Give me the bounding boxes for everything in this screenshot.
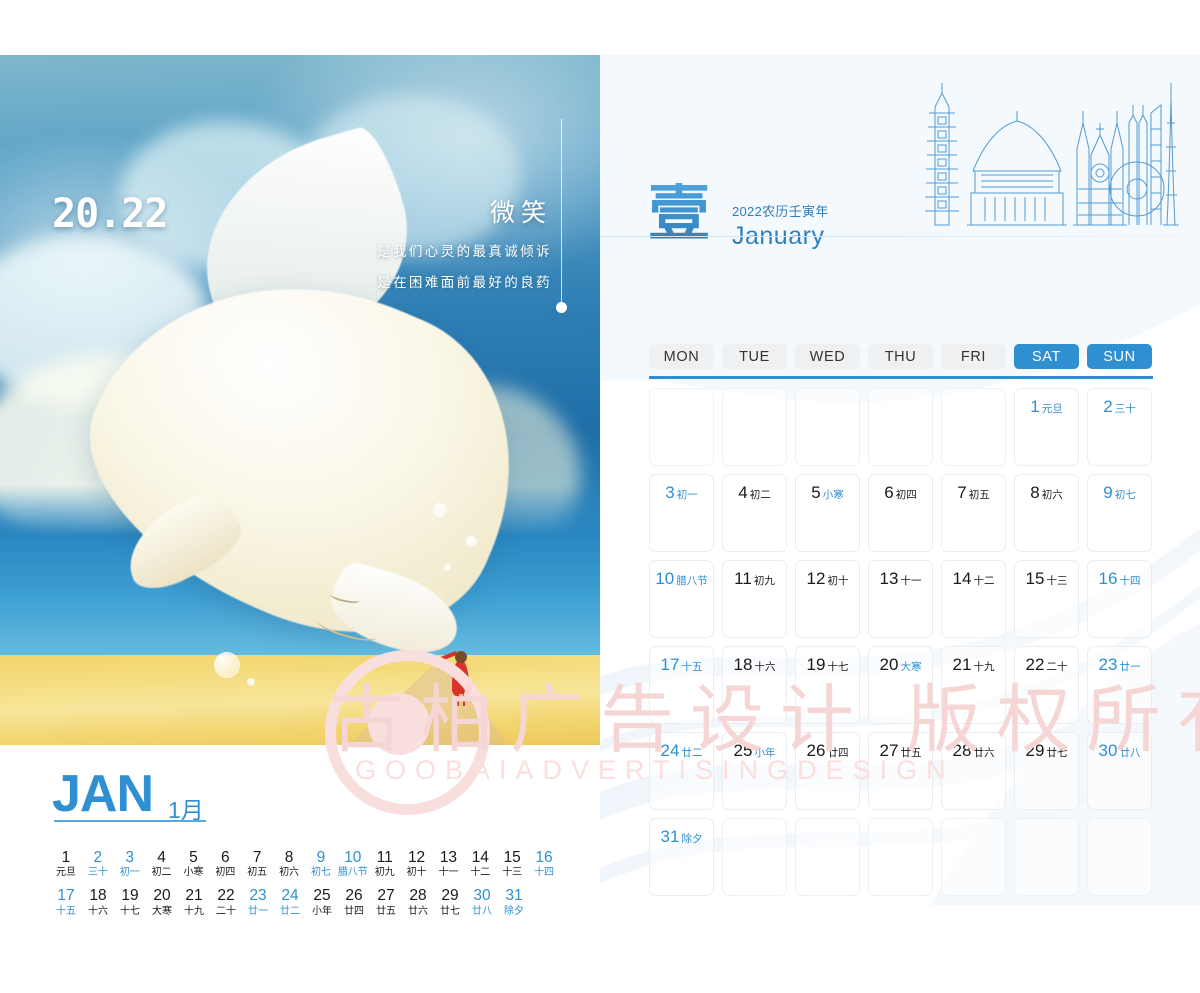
- calendar-cell-empty: [795, 818, 860, 896]
- mini-day-lunar: 除夕: [498, 905, 530, 918]
- mini-calendar-day[interactable]: 20大寒: [146, 888, 178, 917]
- mini-day-number: 2: [82, 850, 114, 866]
- calendar-cell[interactable]: 21十九: [941, 646, 1006, 724]
- mini-day-number: 23: [242, 888, 274, 904]
- day-lunar-label: 廿五: [900, 747, 921, 759]
- mini-calendar-day[interactable]: 4初二: [146, 850, 178, 879]
- poster-panel: 20.22 微笑 是我们心灵的最真诚倾诉 是在困难面前最好的良药 JAN 1月 …: [0, 55, 600, 905]
- calendar-cell[interactable]: 6初四: [868, 474, 933, 552]
- mini-day-lunar: 初七: [305, 866, 337, 879]
- mini-day-lunar: 初六: [273, 866, 305, 879]
- calendar-cell[interactable]: 2三十: [1087, 388, 1152, 466]
- calendar-grid: 1元旦2三十3初一4初二5小寒6初四7初五8初六9初七10腊八节11初九12初十…: [649, 388, 1152, 896]
- day-lunar-label: 初七: [1115, 489, 1136, 501]
- girl-head: [455, 651, 467, 663]
- calendar-cell[interactable]: 5小寒: [795, 474, 860, 552]
- day-lunar-label: 十五: [681, 661, 702, 673]
- mini-day-lunar: 二十: [210, 905, 242, 918]
- day-lunar-label: 十三: [1046, 575, 1067, 587]
- mini-calendar-day[interactable]: 11初九: [369, 850, 401, 879]
- day-number: 8: [1030, 483, 1039, 502]
- weekday-underline: [649, 376, 1153, 379]
- mini-calendar-day[interactable]: 21十九: [178, 888, 210, 917]
- day-lunar-label: 廿二: [681, 747, 702, 759]
- calendar-cell[interactable]: 9初七: [1087, 474, 1152, 552]
- day-number: 23: [1099, 655, 1118, 674]
- mini-calendar-day[interactable]: 23廿一: [242, 888, 274, 917]
- day-number: 4: [738, 483, 747, 502]
- calendar-cell[interactable]: 3初一: [649, 474, 714, 552]
- day-lunar-label: 廿六: [973, 747, 994, 759]
- mini-calendar-day[interactable]: 1元旦: [50, 850, 82, 879]
- calendar-cell[interactable]: 11初九: [722, 560, 787, 638]
- calendar-cell-empty: [795, 388, 860, 466]
- day-number: 28: [953, 741, 972, 760]
- calendar-cell-empty: [649, 388, 714, 466]
- mini-day-lunar: 初二: [146, 866, 178, 879]
- day-number: 30: [1099, 741, 1118, 760]
- quote-title: 微笑: [322, 193, 552, 229]
- mini-day-lunar: 小寒: [178, 866, 210, 879]
- mini-day-lunar: 十一: [433, 866, 465, 879]
- day-lunar-label: 初十: [827, 575, 848, 587]
- day-lunar-label: 元旦: [1042, 403, 1063, 415]
- mini-calendar-day[interactable]: 13十一: [433, 850, 465, 879]
- calendar-cell-empty: [722, 388, 787, 466]
- quote-line: 是在困难面前最好的良药: [322, 271, 552, 291]
- day-lunar-label: 廿八: [1119, 747, 1140, 759]
- mini-day-lunar: 初九: [369, 866, 401, 879]
- day-number: 2: [1103, 397, 1112, 416]
- bubble: [214, 652, 240, 678]
- header-divider: [600, 236, 1200, 237]
- mini-day-lunar: 小年: [306, 905, 338, 918]
- day-number: 15: [1026, 569, 1045, 588]
- mini-day-lunar: 廿五: [370, 905, 402, 918]
- calendar-cell[interactable]: 31除夕: [649, 818, 714, 896]
- day-lunar-label: 初四: [896, 489, 917, 501]
- calendar-cell-empty: [941, 818, 1006, 896]
- mini-day-number: 17: [50, 888, 82, 904]
- mini-day-lunar: 初五: [241, 866, 273, 879]
- mini-calendar-day[interactable]: 30廿八: [466, 888, 498, 917]
- day-number: 21: [953, 655, 972, 674]
- mini-calendar-day[interactable]: 7初五: [241, 850, 273, 879]
- quote-block: 微笑 是我们心灵的最真诚倾诉 是在困难面前最好的良药: [322, 193, 552, 291]
- mini-day-number: 19: [114, 888, 146, 904]
- mini-calendar-row: 1元旦2三十3初一4初二5小寒6初四7初五8初六9初七10腊八节11初九12初十…: [50, 850, 560, 879]
- day-number: 9: [1103, 483, 1112, 502]
- mini-day-number: 9: [305, 850, 337, 866]
- calendar-panel: 壹 2022农历壬寅年 January: [600, 55, 1200, 905]
- mini-day-lunar: 初一: [114, 866, 146, 879]
- mini-day-lunar: 十六: [82, 905, 114, 918]
- quote-divider-dot: [556, 302, 567, 313]
- calendar-cell[interactable]: 12初十: [795, 560, 860, 638]
- calendar-cell[interactable]: 8初六: [1014, 474, 1079, 552]
- weekday-fri[interactable]: FRI: [941, 344, 1006, 369]
- calendar-cell[interactable]: 19十七: [795, 646, 860, 724]
- mini-day-number: 12: [401, 850, 433, 866]
- mini-day-lunar: 初十: [401, 866, 433, 879]
- mini-day-number: 31: [498, 888, 530, 904]
- mini-calendar-day[interactable]: 2三十: [82, 850, 114, 879]
- day-number: 29: [1026, 741, 1045, 760]
- day-number: 22: [1026, 655, 1045, 674]
- quote-line: 是我们心灵的最真诚倾诉: [322, 240, 552, 260]
- weekday-wed[interactable]: WED: [795, 344, 860, 369]
- mini-calendar-day[interactable]: 8初六: [273, 850, 305, 879]
- mini-calendar-day[interactable]: 28廿六: [402, 888, 434, 917]
- day-lunar-label: 十二: [973, 575, 994, 587]
- bubble: [247, 678, 255, 686]
- mini-day-number: 8: [273, 850, 305, 866]
- mini-calendar-row: 17十五18十六19十七20大寒21十九22二十23廿一24廿二25小年26廿四…: [50, 888, 560, 917]
- day-number: 31: [661, 827, 680, 846]
- mini-calendar-strip: 1元旦2三十3初一4初二5小寒6初四7初五8初六9初七10腊八节11初九12初十…: [50, 850, 560, 927]
- mini-day-number: 14: [464, 850, 496, 866]
- mini-day-lunar: 十七: [114, 905, 146, 918]
- calendar-cell[interactable]: 10腊八节: [649, 560, 714, 638]
- day-number: 11: [734, 569, 752, 588]
- mini-day-number: 22: [210, 888, 242, 904]
- calendar-cell[interactable]: 23廿一: [1087, 646, 1152, 724]
- day-lunar-label: 腊八节: [676, 575, 708, 587]
- bubble: [466, 536, 477, 547]
- calendar-cell[interactable]: 1元旦: [1014, 388, 1079, 466]
- wheat-field: [0, 655, 600, 745]
- mini-day-number: 7: [241, 850, 273, 866]
- year-mark: 20.22: [52, 191, 167, 237]
- calendar-cell[interactable]: 18十六: [722, 646, 787, 724]
- day-lunar-label: 十九: [973, 661, 994, 673]
- day-lunar-label: 小寒: [823, 489, 844, 501]
- day-number: 24: [661, 741, 680, 760]
- calendar-cell[interactable]: 28廿六: [941, 732, 1006, 810]
- mini-day-number: 6: [209, 850, 241, 866]
- mini-day-lunar: 十二: [464, 866, 496, 879]
- mini-day-number: 10: [337, 850, 369, 866]
- calendar-cell-empty: [868, 388, 933, 466]
- day-number: 1: [1030, 397, 1039, 416]
- mini-day-number: 29: [434, 888, 466, 904]
- calendar-cell[interactable]: 14十二: [941, 560, 1006, 638]
- day-number: 10: [655, 569, 674, 588]
- mini-day-lunar: 廿四: [338, 905, 370, 918]
- mini-calendar-day[interactable]: 10腊八节: [337, 850, 369, 879]
- lunar-year-label: 2022农历壬寅年: [732, 201, 829, 220]
- bubble: [433, 503, 447, 517]
- weekday-sun[interactable]: SUN: [1087, 344, 1152, 369]
- mini-calendar-day[interactable]: 19十七: [114, 888, 146, 917]
- mini-calendar-day[interactable]: 27廿五: [370, 888, 402, 917]
- mini-day-number: 24: [274, 888, 306, 904]
- mini-calendar-day[interactable]: 17十五: [50, 888, 82, 917]
- day-lunar-label: 廿四: [827, 747, 848, 759]
- day-lunar-label: 初一: [677, 489, 698, 501]
- day-number: 12: [807, 569, 826, 588]
- mini-day-lunar: 初四: [209, 866, 241, 879]
- day-lunar-label: 大寒: [900, 661, 921, 673]
- day-number: 19: [807, 655, 826, 674]
- mini-calendar-day[interactable]: 6初四: [209, 850, 241, 879]
- bubble: [444, 564, 451, 571]
- girl-legs: [457, 694, 465, 706]
- day-lunar-label: 二十: [1046, 661, 1067, 673]
- mini-day-lunar: 大寒: [146, 905, 178, 918]
- day-number: 27: [880, 741, 899, 760]
- mini-calendar-day[interactable]: 18十六: [82, 888, 114, 917]
- weekday-sat[interactable]: SAT: [1014, 344, 1079, 369]
- day-lunar-label: 十一: [900, 575, 921, 587]
- mini-calendar-day[interactable]: 25小年: [306, 888, 338, 917]
- mini-day-lunar: 十四: [528, 866, 560, 879]
- mini-day-number: 18: [82, 888, 114, 904]
- calendar-cell[interactable]: 22二十: [1014, 646, 1079, 724]
- weekday-header-row: MONTUEWEDTHUFRISATSUN: [649, 344, 1152, 369]
- day-number: 3: [665, 483, 674, 502]
- mini-day-number: 30: [466, 888, 498, 904]
- mini-calendar-day[interactable]: 14十二: [464, 850, 496, 879]
- day-lunar-label: 除夕: [681, 833, 702, 845]
- day-number: 17: [661, 655, 680, 674]
- calendar-cell[interactable]: 7初五: [941, 474, 1006, 552]
- city-skyline-icon: [915, 63, 1180, 233]
- mini-calendar-day[interactable]: 9初七: [305, 850, 337, 879]
- day-lunar-label: 廿七: [1046, 747, 1067, 759]
- mini-day-lunar: 元旦: [50, 866, 82, 879]
- day-number: 14: [953, 569, 972, 588]
- calendar-page: 20.22 微笑 是我们心灵的最真诚倾诉 是在困难面前最好的良药 JAN 1月 …: [0, 0, 1200, 993]
- month-abbr-title: JAN: [52, 768, 153, 820]
- weekday-thu[interactable]: THU: [868, 344, 933, 369]
- calendar-cell[interactable]: 27廿五: [868, 732, 933, 810]
- mini-calendar-day[interactable]: 16十四: [528, 850, 560, 879]
- mini-day-number: 26: [338, 888, 370, 904]
- day-lunar-label: 十七: [827, 661, 848, 673]
- calendar-cell-empty: [868, 818, 933, 896]
- day-number: 26: [807, 741, 826, 760]
- day-number: 25: [734, 741, 753, 760]
- calendar-cell[interactable]: 30廿八: [1087, 732, 1152, 810]
- calendar-cell-empty: [1087, 818, 1152, 896]
- weekday-mon[interactable]: MON: [649, 344, 714, 369]
- mini-day-number: 4: [146, 850, 178, 866]
- mini-calendar-day[interactable]: 12初十: [401, 850, 433, 879]
- mini-day-number: 21: [178, 888, 210, 904]
- mini-day-lunar: 廿六: [402, 905, 434, 918]
- mini-day-lunar: 廿七: [434, 905, 466, 918]
- day-number: 7: [957, 483, 966, 502]
- mini-day-number: 15: [496, 850, 528, 866]
- mini-calendar-day[interactable]: 29廿七: [434, 888, 466, 917]
- mini-day-lunar: 十九: [178, 905, 210, 918]
- day-lunar-label: 初二: [750, 489, 771, 501]
- weekday-tue[interactable]: TUE: [722, 344, 787, 369]
- calendar-cell[interactable]: 20大寒: [868, 646, 933, 724]
- quote-divider-line: [561, 119, 562, 305]
- calendar-cell[interactable]: 29廿七: [1014, 732, 1079, 810]
- day-lunar-label: 三十: [1115, 403, 1136, 415]
- mini-day-number: 16: [528, 850, 560, 866]
- mini-calendar-day[interactable]: 22二十: [210, 888, 242, 917]
- mini-day-number: 28: [402, 888, 434, 904]
- mini-calendar-day[interactable]: 24廿二: [274, 888, 306, 917]
- mini-day-lunar: 三十: [82, 866, 114, 879]
- mini-day-lunar: 廿一: [242, 905, 274, 918]
- mini-day-number: 13: [433, 850, 465, 866]
- day-number: 13: [880, 569, 899, 588]
- mini-day-number: 5: [178, 850, 210, 866]
- mini-day-lunar: 十三: [496, 866, 528, 879]
- day-lunar-label: 小年: [754, 747, 775, 759]
- month-title-underline: [54, 820, 206, 822]
- day-number: 20: [880, 655, 899, 674]
- calendar-cell[interactable]: 13十一: [868, 560, 933, 638]
- mini-day-number: 3: [114, 850, 146, 866]
- calendar-cell[interactable]: 17十五: [649, 646, 714, 724]
- day-lunar-label: 十六: [754, 661, 775, 673]
- calendar-cell[interactable]: 15十三: [1014, 560, 1079, 638]
- calendar-cell[interactable]: 16十四: [1087, 560, 1152, 638]
- day-number: 6: [884, 483, 893, 502]
- calendar-cell-empty: [722, 818, 787, 896]
- mini-day-lunar: 腊八节: [337, 866, 369, 879]
- day-lunar-label: 初九: [754, 575, 775, 587]
- mini-day-number: 25: [306, 888, 338, 904]
- mini-calendar-day[interactable]: 26廿四: [338, 888, 370, 917]
- mini-day-number: 1: [50, 850, 82, 866]
- calendar-cell-empty: [1014, 818, 1079, 896]
- day-number: 16: [1099, 569, 1118, 588]
- mini-calendar-day[interactable]: 31除夕: [498, 888, 530, 917]
- calendar-cell[interactable]: 4初二: [722, 474, 787, 552]
- mini-calendar-day[interactable]: 15十三: [496, 850, 528, 879]
- mini-calendar-day[interactable]: 3初一: [114, 850, 146, 879]
- mini-calendar-day[interactable]: 5小寒: [178, 850, 210, 879]
- calendar-cell[interactable]: 26廿四: [795, 732, 860, 810]
- mini-day-lunar: 十五: [50, 905, 82, 918]
- mini-day-number: 20: [146, 888, 178, 904]
- day-number: 5: [811, 483, 820, 502]
- calendar-cell-empty: [941, 388, 1006, 466]
- mini-day-lunar: 廿八: [466, 905, 498, 918]
- day-lunar-label: 廿一: [1119, 661, 1140, 673]
- mini-day-number: 11: [369, 850, 401, 866]
- day-lunar-label: 十四: [1119, 575, 1140, 587]
- mini-day-number: 27: [370, 888, 402, 904]
- day-number: 18: [734, 655, 753, 674]
- mini-day-lunar: 廿二: [274, 905, 306, 918]
- whale-illustration: 20.22 微笑 是我们心灵的最真诚倾诉 是在困难面前最好的良药: [0, 55, 600, 745]
- calendar-cell[interactable]: 25小年: [722, 732, 787, 810]
- day-lunar-label: 初五: [969, 489, 990, 501]
- day-lunar-label: 初六: [1042, 489, 1063, 501]
- calendar-cell[interactable]: 24廿二: [649, 732, 714, 810]
